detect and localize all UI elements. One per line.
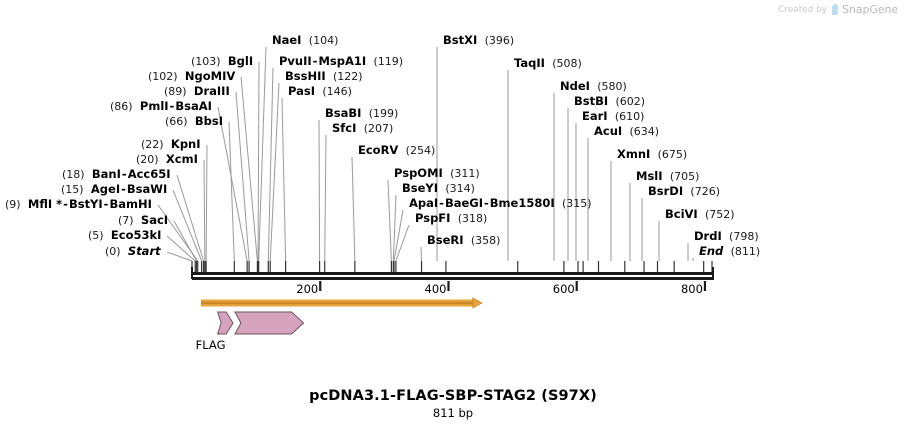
snapgene-logo-icon xyxy=(832,4,839,15)
flag-feature-arrow[interactable] xyxy=(218,312,233,334)
enzyme-name[interactable]: BsaBI xyxy=(325,106,361,120)
enzyme-label-ecorv[interactable]: EcoRV (254) xyxy=(358,145,435,157)
enzyme-name[interactable]: AgeI xyxy=(91,182,120,196)
ruler-bottom-bar xyxy=(192,277,714,280)
ruler-tick-label-600: 600 xyxy=(547,282,575,296)
enzyme-name[interactable]: Start xyxy=(128,244,161,258)
enzyme-name[interactable]: MslI xyxy=(636,169,663,183)
label-separator: - xyxy=(438,196,445,210)
enzyme-position: (102) xyxy=(148,70,178,83)
enzyme-label-agei[interactable]: (15) AgeI-BsaWI xyxy=(61,184,167,196)
enzyme-position: (122) xyxy=(333,70,363,83)
enzyme-position: (610) xyxy=(615,110,645,123)
orf-arrowhead xyxy=(473,298,482,308)
enzyme-label-xmni[interactable]: XmnI (675) xyxy=(617,149,687,161)
leader-line xyxy=(229,122,234,261)
watermark-prefix: Created by xyxy=(778,5,827,15)
construct-length: 811 bp xyxy=(0,406,906,420)
enzyme-label-bcivi[interactable]: BciVI (752) xyxy=(665,209,735,221)
enzyme-name[interactable]: EcoRV xyxy=(358,143,398,157)
ruler-tick-label-200: 200 xyxy=(290,282,318,296)
enzyme-name[interactable]: MspA1I xyxy=(318,54,366,68)
leader-line xyxy=(394,210,403,261)
label-separator: - xyxy=(120,182,127,196)
enzyme-label-eco53ki[interactable]: (5) Eco53kI xyxy=(88,230,161,242)
enzyme-name[interactable]: DraIII xyxy=(194,84,230,98)
enzyme-name[interactable]: BsaWI xyxy=(127,182,167,196)
enzyme-label-end[interactable]: End (811) xyxy=(699,246,760,258)
enzyme-name[interactable]: PvuII xyxy=(279,54,312,68)
leader-line xyxy=(319,120,320,261)
enzyme-position: (311) xyxy=(450,167,480,180)
enzyme-position: (705) xyxy=(670,170,700,183)
enzyme-label-apai[interactable]: ApaI-BaeGI-Bme1580I (315) xyxy=(409,198,592,210)
enzyme-name[interactable]: DrdI xyxy=(694,229,722,243)
enzyme-position: (22) xyxy=(141,138,164,151)
enzyme-position: (675) xyxy=(658,148,688,161)
leader-line xyxy=(270,83,279,261)
leader-line xyxy=(421,247,422,261)
leader-line xyxy=(282,98,286,261)
leader-line xyxy=(236,92,249,261)
enzyme-position: (508) xyxy=(552,57,582,70)
enzyme-position: (254) xyxy=(406,144,436,157)
enzyme-position: (314) xyxy=(445,182,475,195)
sbp-feature-label: SBP xyxy=(251,316,273,330)
leader-line xyxy=(218,107,247,261)
enzyme-name[interactable]: Bme1580I xyxy=(490,196,555,210)
enzyme-position: (86) xyxy=(110,100,133,113)
enzyme-label-bstxi[interactable]: BstXI (396) xyxy=(443,35,514,47)
leader-line xyxy=(204,160,205,261)
enzyme-name[interactable]: XcmI xyxy=(166,152,198,166)
enzyme-label-drdi[interactable]: DrdI (798) xyxy=(694,231,759,243)
enzyme-label-bsrdi[interactable]: BsrDI (726) xyxy=(648,186,720,198)
enzyme-position: (89) xyxy=(164,85,187,98)
enzyme-label-pspfi[interactable]: PspFI (318) xyxy=(415,213,487,225)
leader-line xyxy=(177,175,204,261)
enzyme-label-eari[interactable]: EarI (610) xyxy=(582,111,644,123)
leader-line xyxy=(167,236,195,261)
enzyme-position: (15) xyxy=(61,183,84,196)
enzyme-position: (18) xyxy=(62,168,85,181)
enzyme-name[interactable]: PmlI xyxy=(140,99,169,113)
ruler-tick-label-400: 400 xyxy=(418,282,446,296)
enzyme-label-naei[interactable]: NaeI (104) xyxy=(272,35,338,47)
leader-line xyxy=(388,180,391,261)
enzyme-name[interactable]: SacI xyxy=(141,213,168,227)
enzyme-position: (396) xyxy=(485,34,515,47)
page-title: pcDNA3.1-FLAG-SBP-STAG2 (S97X) xyxy=(0,388,906,404)
enzyme-label-bani[interactable]: (18) BanI-Acc65I xyxy=(62,169,171,181)
enzyme-label-bgli[interactable]: (103) BglI xyxy=(191,56,253,68)
enzyme-name[interactable]: End xyxy=(699,244,723,258)
enzyme-position: (66) xyxy=(165,115,188,128)
leader-line xyxy=(167,252,192,261)
enzyme-name[interactable]: BseRI xyxy=(427,233,464,247)
enzyme-label-xcmi[interactable]: (20) XcmI xyxy=(136,154,198,166)
enzyme-position: (580) xyxy=(597,80,627,93)
enzyme-label-saci[interactable]: (7) SacI xyxy=(118,215,168,227)
enzyme-label-start[interactable]: (0) Start xyxy=(105,246,161,258)
enzyme-label-pasi[interactable]: PasI (146) xyxy=(288,86,352,98)
enzyme-name[interactable]: BamHI xyxy=(109,197,151,211)
enzyme-position: (207) xyxy=(364,122,394,135)
leader-line xyxy=(173,190,202,261)
enzyme-name[interactable]: NaeI xyxy=(272,33,301,47)
enzyme-name[interactable]: NgoMIV xyxy=(185,69,235,83)
leader-line xyxy=(268,68,273,261)
snapgene-watermark: Created by SnapGene xyxy=(778,3,898,16)
enzyme-name[interactable]: Acc65I xyxy=(128,167,171,181)
enzyme-name[interactable]: MflI * xyxy=(28,197,62,211)
enzyme-name[interactable]: BstYI xyxy=(69,197,103,211)
enzyme-label-kpni[interactable]: (22) KpnI xyxy=(141,139,201,151)
enzyme-name[interactable]: PspOMI xyxy=(394,166,443,180)
enzyme-label-draiii[interactable]: (89) DraIII xyxy=(164,86,230,98)
enzyme-position: (634) xyxy=(630,125,660,138)
enzyme-position: (199) xyxy=(369,107,399,120)
enzyme-label-taqii[interactable]: TaqII (508) xyxy=(514,58,582,70)
ruler-start-cap xyxy=(191,267,193,279)
enzyme-label-bseyi[interactable]: BseYI (314) xyxy=(402,183,475,195)
enzyme-position: (104) xyxy=(309,34,339,47)
enzyme-name[interactable]: SfcI xyxy=(332,121,356,135)
enzyme-name[interactable]: BstBI xyxy=(574,94,608,108)
enzyme-position: (726) xyxy=(690,185,720,198)
enzyme-position: (358) xyxy=(471,234,501,247)
enzyme-name[interactable]: BglI xyxy=(228,54,253,68)
enzyme-name[interactable]: ApaI xyxy=(409,196,438,210)
enzyme-name[interactable]: PspFI xyxy=(415,211,450,225)
enzyme-name[interactable]: BseYI xyxy=(402,181,438,195)
ruler-tick-label-800: 800 xyxy=(675,282,703,296)
enzyme-position: (146) xyxy=(322,85,352,98)
ruler-top-bar xyxy=(192,272,714,275)
enzyme-name[interactable]: TaqII xyxy=(514,56,545,70)
enzyme-name[interactable]: KpnI xyxy=(171,137,201,151)
label-separator: - xyxy=(483,196,490,210)
enzyme-position: (9) xyxy=(5,198,21,211)
enzyme-label-pvuii[interactable]: PvuII-MspA1I (119) xyxy=(279,56,403,68)
enzyme-position: (752) xyxy=(705,208,735,221)
enzyme-name[interactable]: BciVI xyxy=(665,207,698,221)
enzyme-label-bseri[interactable]: BseRI (358) xyxy=(427,235,500,247)
enzyme-label-acui[interactable]: AcuI (634) xyxy=(594,126,659,138)
enzyme-name[interactable]: BssHII xyxy=(285,69,326,83)
enzyme-label-pmli[interactable]: (86) PmlI-BsaAI xyxy=(110,101,212,113)
enzyme-label-bstbi[interactable]: BstBI (602) xyxy=(574,96,645,108)
enzyme-name[interactable]: BaeGI xyxy=(445,196,483,210)
ruler-end-cap xyxy=(712,267,714,279)
leader-line xyxy=(393,195,396,261)
enzyme-label-bsabi[interactable]: BsaBI (199) xyxy=(325,108,398,120)
enzyme-position: (7) xyxy=(118,214,134,227)
enzyme-name[interactable]: PasI xyxy=(288,84,315,98)
leader-line xyxy=(259,47,266,261)
enzyme-label-sfci[interactable]: SfcI (207) xyxy=(332,123,393,135)
enzyme-position: (602) xyxy=(615,95,645,108)
leader-line xyxy=(206,145,207,261)
enzyme-position: (315) xyxy=(562,197,592,210)
leader-line xyxy=(325,135,326,261)
enzyme-name[interactable]: NdeI xyxy=(560,79,590,93)
enzyme-name[interactable]: BbsI xyxy=(195,114,223,128)
enzyme-position: (119) xyxy=(373,55,403,68)
enzyme-position: (798) xyxy=(729,230,759,243)
watermark-brand: SnapGene xyxy=(842,3,898,16)
enzyme-name[interactable]: BstXI xyxy=(443,33,477,47)
enzyme-label-bsshii[interactable]: BssHII (122) xyxy=(285,71,363,83)
enzyme-name[interactable]: BsrDI xyxy=(648,184,683,198)
enzyme-position: (811) xyxy=(731,245,761,258)
enzyme-position: (318) xyxy=(458,212,488,225)
leader-line xyxy=(396,225,409,261)
orf-arrow[interactable] xyxy=(201,298,482,308)
enzyme-position: (20) xyxy=(136,153,159,166)
enzyme-name[interactable]: EarI xyxy=(582,109,608,123)
enzyme-position: (103) xyxy=(191,55,221,68)
enzyme-name[interactable]: AcuI xyxy=(594,124,622,138)
enzyme-name[interactable]: Eco53kI xyxy=(111,228,162,242)
enzyme-label-msli[interactable]: MslI (705) xyxy=(636,171,699,183)
enzyme-name[interactable]: BsaAI xyxy=(175,99,212,113)
label-separator: - xyxy=(121,167,128,181)
enzyme-label-ngomiv[interactable]: (102) NgoMIV xyxy=(148,71,235,83)
enzyme-position: (5) xyxy=(88,229,104,242)
leader-line xyxy=(352,157,355,261)
enzyme-name[interactable]: XmnI xyxy=(617,147,650,161)
snapgene-linear-map: Created by SnapGene (103) BglI(102) NgoM… xyxy=(0,0,906,426)
enzyme-label-bbsi[interactable]: (66) BbsI xyxy=(165,116,223,128)
leader-line xyxy=(241,77,257,261)
enzyme-position: (0) xyxy=(105,245,121,258)
leader-line xyxy=(174,221,196,261)
enzyme-label-mfli[interactable]: (9) MflI *-BstYI-BamHI xyxy=(5,199,152,211)
enzyme-name[interactable]: BanI xyxy=(92,167,121,181)
label-separator: - xyxy=(62,197,69,211)
leader-line xyxy=(258,62,259,261)
flag-feature-label: FLAG xyxy=(196,338,226,352)
enzyme-label-ndei[interactable]: NdeI (580) xyxy=(560,81,627,93)
enzyme-label-pspomi[interactable]: PspOMI (311) xyxy=(394,168,480,180)
